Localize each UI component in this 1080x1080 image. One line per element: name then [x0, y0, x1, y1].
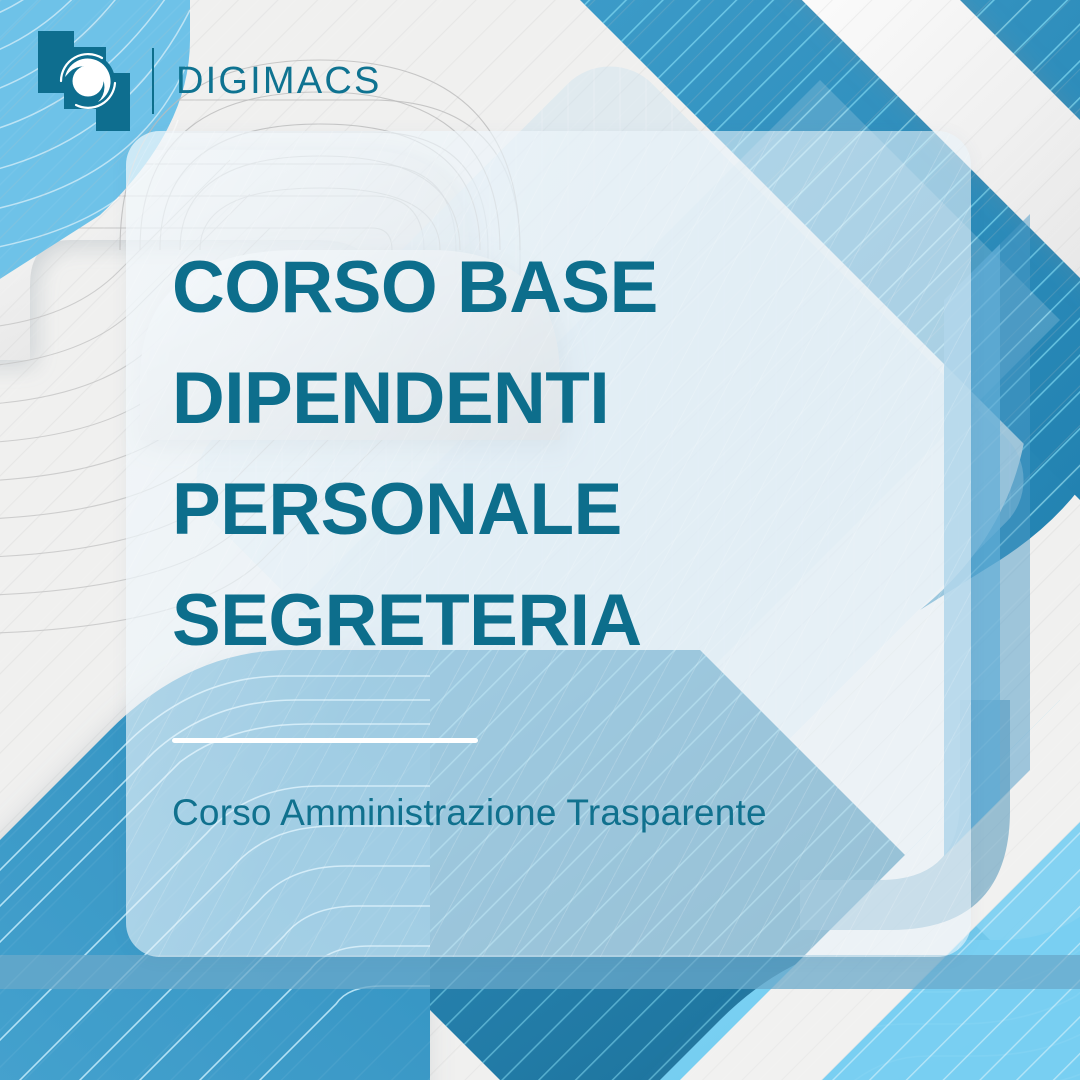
digimacs-swirl-icon — [34, 29, 142, 133]
brand-logo[interactable]: DIGIMACS — [34, 28, 334, 134]
headline-line-1: CORSO BASE — [172, 232, 872, 343]
headline-line-4: SEGRETERIA — [172, 565, 872, 676]
poster-canvas: DIGIMACS CORSO BASE DIPENDENTI PERSONALE… — [0, 0, 1080, 1080]
headline-line-2: DIPENDENTI — [172, 343, 872, 454]
headline-line-3: PERSONALE — [172, 454, 872, 565]
logo-vertical-divider — [152, 48, 154, 114]
headline-group: CORSO BASE DIPENDENTI PERSONALE SEGRETER… — [172, 232, 872, 834]
brand-name: DIGIMACS — [176, 62, 382, 100]
title-divider-rule — [172, 738, 478, 743]
subtitle-text: Corso Amministrazione Trasparente — [172, 792, 872, 834]
